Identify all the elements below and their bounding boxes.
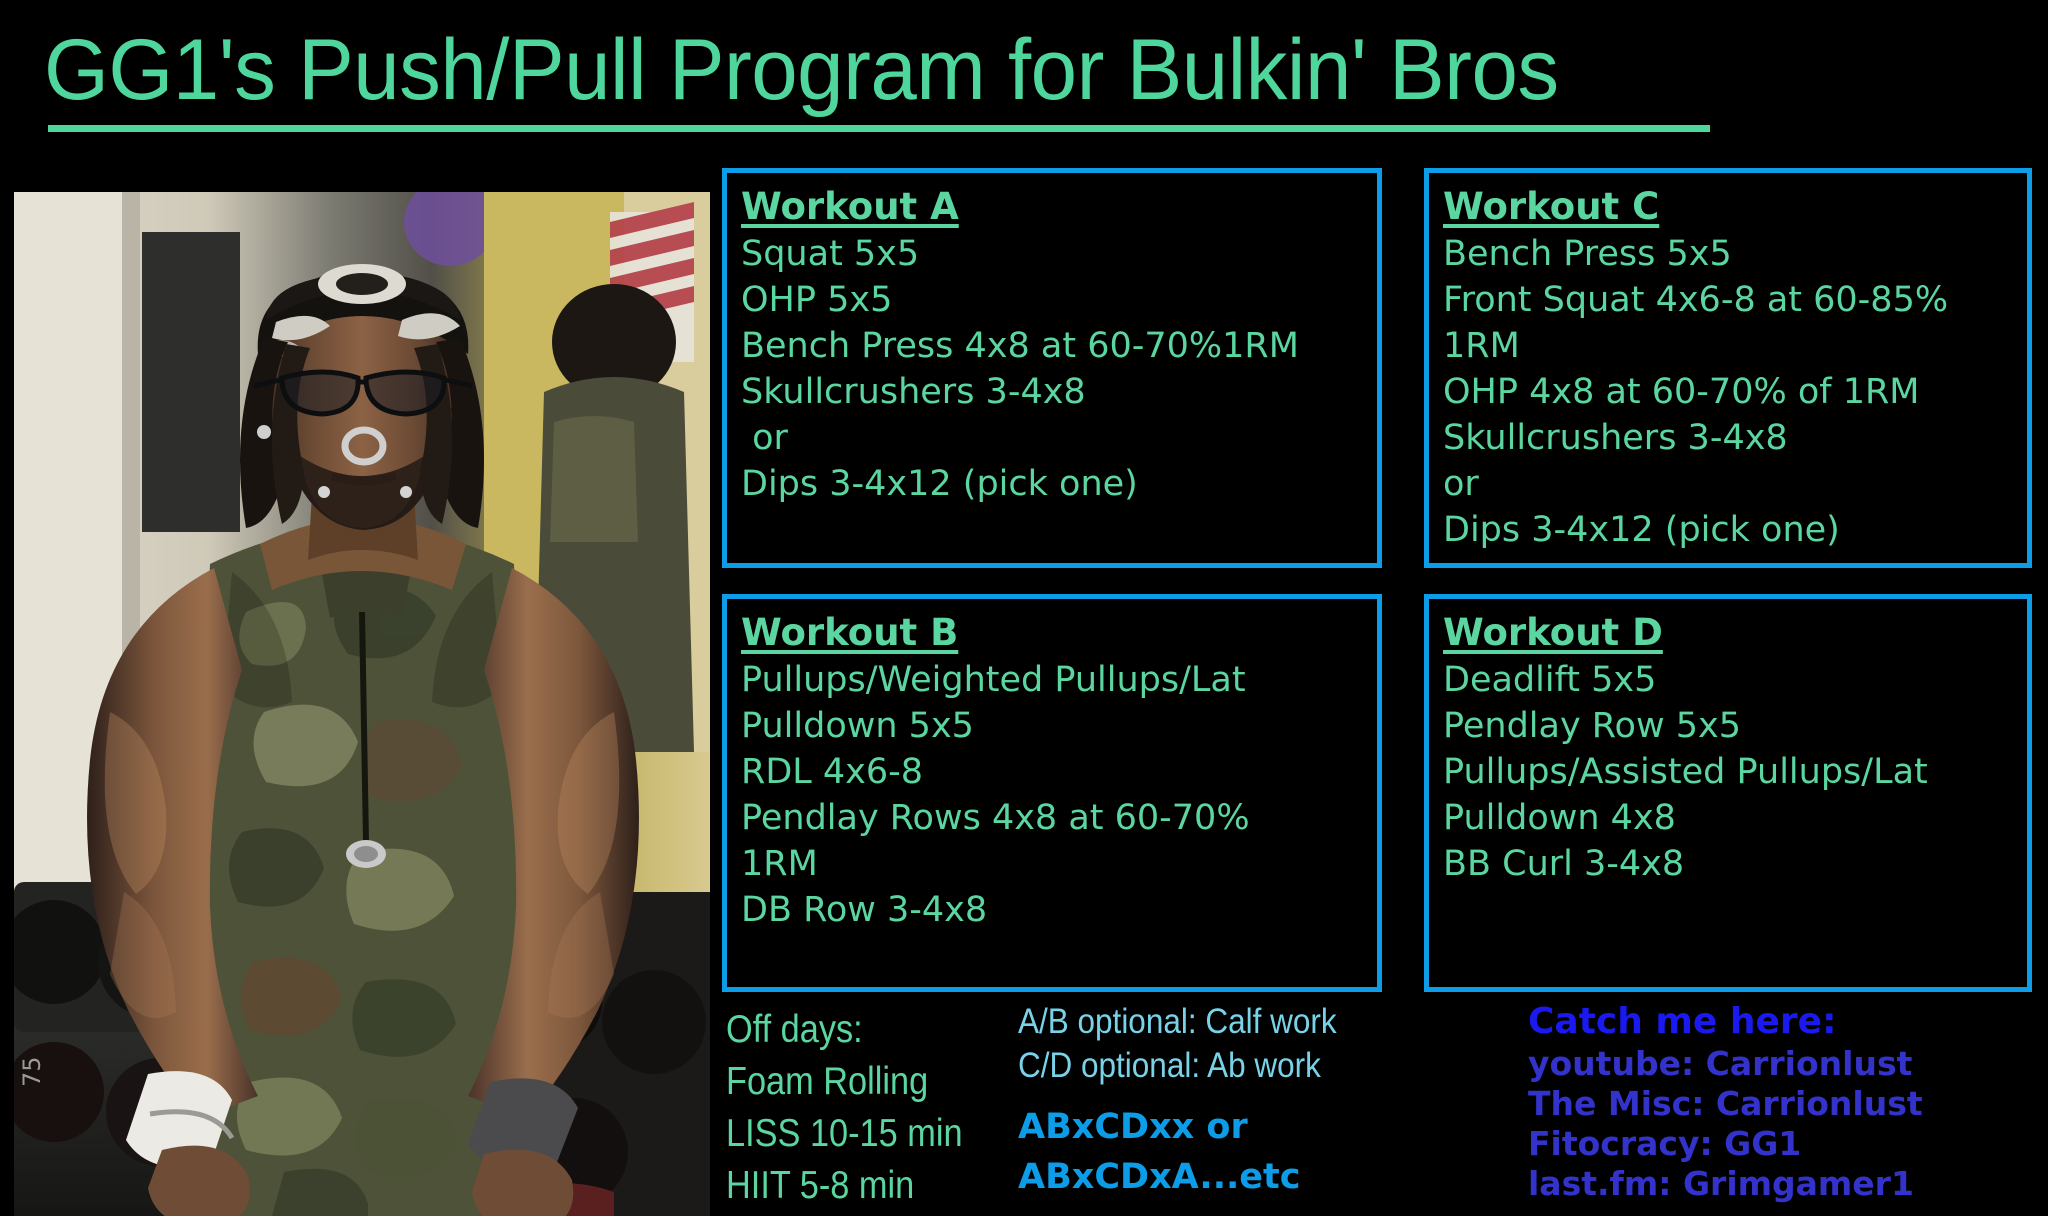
list-item: Pullups/Assisted Pullups/Lat	[1443, 749, 2027, 795]
list-item[interactable]: last.fm: Grimgamer1	[1528, 1164, 1923, 1204]
optional-work-section: A/B optional: Calf workC/D optional: Ab …	[1018, 1000, 1337, 1088]
off-days-heading: Off days:	[726, 1004, 967, 1056]
page-title: GG1's Push/Pull Program for Bulkin' Bros	[44, 22, 1559, 118]
list-item: Dips 3-4x12 (pick one)	[741, 461, 1377, 507]
workout-c-card: Workout C Bench Press 5x5Front Squat 4x6…	[1424, 168, 2032, 568]
list-item: BB Curl 3-4x8	[1443, 841, 2027, 887]
list-item: Pulldown 4x8	[1443, 795, 2027, 841]
list-item: Dips 3-4x12 (pick one)	[1443, 507, 2027, 553]
workout-b-card: Workout B Pullups/Weighted Pullups/LatPu…	[722, 594, 1382, 992]
workout-d-card: Workout D Deadlift 5x5Pendlay Row 5x5Pul…	[1424, 594, 2032, 992]
workout-c-title: Workout C	[1443, 185, 1659, 229]
workout-a-lines: Squat 5x5OHP 5x5Bench Press 4x8 at 60-70…	[741, 231, 1377, 507]
list-item: HIIT 5-8 min	[726, 1160, 967, 1212]
workout-d-lines: Deadlift 5x5Pendlay Row 5x5Pullups/Assis…	[1443, 657, 2027, 887]
header: GG1's Push/Pull Program for Bulkin' Bros	[0, 0, 2048, 165]
workout-d-title: Workout D	[1443, 611, 1663, 655]
list-item: C/D optional: Ab work	[1018, 1044, 1337, 1088]
off-days-section: Off days: Foam RollingLISS 10-15 minHIIT…	[726, 1004, 967, 1216]
list-item: Bench Press 4x8 at 60-70%1RM	[741, 323, 1377, 369]
list-item: A/B optional: Calf work	[1018, 1000, 1337, 1044]
list-item: OHP 5x5	[741, 277, 1377, 323]
list-item: Foam Rolling	[726, 1056, 967, 1108]
athlete-photo: 75	[14, 192, 710, 1216]
list-item: DB Row 3-4x8	[741, 887, 1377, 933]
workout-c-lines: Bench Press 5x5Front Squat 4x6-8 at 60-8…	[1443, 231, 2027, 553]
list-item: Skullcrushers 3-4x8	[741, 369, 1377, 415]
list-item: Pendlay Rows 4x8 at 60-70%	[741, 795, 1377, 841]
list-item: or	[1443, 461, 2027, 507]
contact-heading: Catch me here:	[1528, 1000, 1923, 1044]
title-underline-rule	[48, 125, 1710, 132]
split-pattern-note: ABxCDxx orABxCDxA...etc	[1018, 1102, 1301, 1202]
list-item: Bench Press 5x5	[1443, 231, 2027, 277]
list-item[interactable]: Fitocracy: GG1	[1528, 1124, 1923, 1164]
list-item: Squat 5x5	[741, 231, 1377, 277]
list-item: ABxCDxx or	[1018, 1102, 1301, 1152]
list-item: Front Squat 4x6-8 at 60-85%	[1443, 277, 2027, 323]
list-item: ABxCDxA...etc	[1018, 1152, 1301, 1202]
list-item: Pendlay Row 5x5	[1443, 703, 2027, 749]
list-item[interactable]: The Misc: Carrionlust	[1528, 1084, 1923, 1124]
list-item: Deadlift 5x5	[1443, 657, 2027, 703]
off-days-list: Foam RollingLISS 10-15 minHIIT 5-8 minSt…	[726, 1056, 967, 1216]
athlete-photo-illustration: 75	[14, 192, 710, 1216]
list-item: LISS 10-15 min	[726, 1108, 967, 1160]
list-item: 1RM	[741, 841, 1377, 887]
workout-a-title: Workout A	[741, 185, 959, 229]
list-item: Stretching/Yoga	[726, 1212, 967, 1216]
workout-b-title: Workout B	[741, 611, 958, 655]
list-item: Pulldown 5x5	[741, 703, 1377, 749]
list-item: RDL 4x6-8	[741, 749, 1377, 795]
list-item: or	[741, 415, 1377, 461]
svg-text:75: 75	[18, 1056, 46, 1087]
list-item: Skullcrushers 3-4x8	[1443, 415, 2027, 461]
contact-links[interactable]: youtube: CarrionlustThe Misc: Carrionlus…	[1528, 1044, 1923, 1204]
workout-a-card: Workout A Squat 5x5OHP 5x5Bench Press 4x…	[722, 168, 1382, 568]
contact-section: Catch me here: youtube: CarrionlustThe M…	[1528, 1000, 1923, 1204]
list-item: OHP 4x8 at 60-70% of 1RM	[1443, 369, 2027, 415]
poster-root: GG1's Push/Pull Program for Bulkin' Bros	[0, 0, 2048, 1216]
workout-b-lines: Pullups/Weighted Pullups/LatPulldown 5x5…	[741, 657, 1377, 933]
list-item[interactable]: youtube: Carrionlust	[1528, 1044, 1923, 1084]
list-item: Pullups/Weighted Pullups/Lat	[741, 657, 1377, 703]
list-item: 1RM	[1443, 323, 2027, 369]
